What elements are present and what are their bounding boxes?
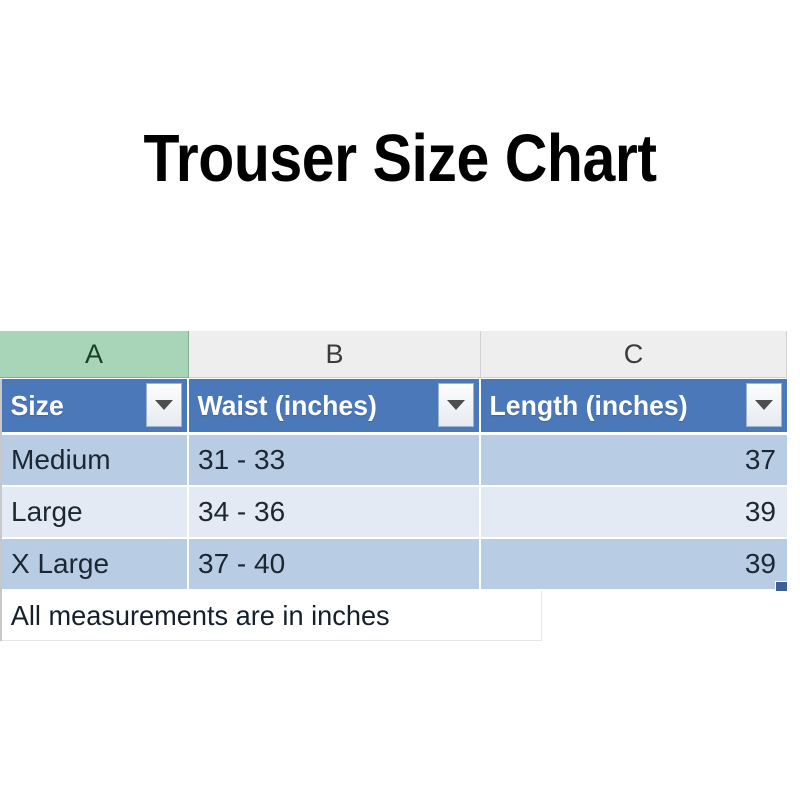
column-letter-strip: A B C [0,331,787,378]
table-header-label-size: Size [2,390,64,422]
table-header-label-length: Length (inches) [481,390,688,422]
table-footnote-row[interactable]: All measurements are in inches [2,591,787,641]
table-row[interactable]: Large 34 - 36 39 [2,487,787,539]
spreadsheet-table: A B C Size Waist (inches) Length (inches… [0,331,787,641]
cell-size[interactable]: Large [2,487,189,539]
column-letter-c[interactable]: C [481,331,787,378]
table-row[interactable]: Medium 31 - 33 37 [2,435,787,487]
cell-length[interactable]: 39 [481,487,787,539]
table-header-cell-length: Length (inches) [481,379,787,432]
footnote-underline [2,640,542,641]
cell-waist[interactable]: 31 - 33 [189,435,481,487]
table-header-row: Size Waist (inches) Length (inches) [2,379,787,432]
column-letter-a-label: A [85,339,103,370]
column-letter-b-label: B [325,339,343,370]
column-letter-c-label: C [624,339,644,370]
table-header-cell-size: Size [2,379,189,432]
table-header-label-waist: Waist (inches) [189,390,377,422]
cell-size[interactable]: Medium [2,435,189,487]
cell-waist[interactable]: 34 - 36 [189,487,481,539]
column-letter-a[interactable]: A [0,331,189,378]
table-body: Medium 31 - 33 37 Large 34 - 36 39 X Lar… [2,435,787,591]
column-letter-b[interactable]: B [189,331,481,378]
filter-dropdown-icon-length[interactable] [746,383,782,427]
cell-length[interactable]: 39 [481,539,787,591]
chevron-down-icon [447,400,465,410]
filter-dropdown-icon-waist[interactable] [438,383,474,427]
chevron-down-icon [755,400,773,410]
filter-dropdown-icon-size[interactable] [146,383,182,427]
cell-waist[interactable]: 37 - 40 [189,539,481,591]
page-title: Trouser Size Chart [48,120,752,198]
cell-length[interactable]: 37 [481,435,787,487]
table-footnote-text: All measurements are in inches [2,600,390,632]
table-row[interactable]: X Large 37 - 40 39 [2,539,787,591]
chevron-down-icon [155,400,173,410]
table-header-cell-waist: Waist (inches) [189,379,481,432]
cell-size[interactable]: X Large [2,539,189,591]
